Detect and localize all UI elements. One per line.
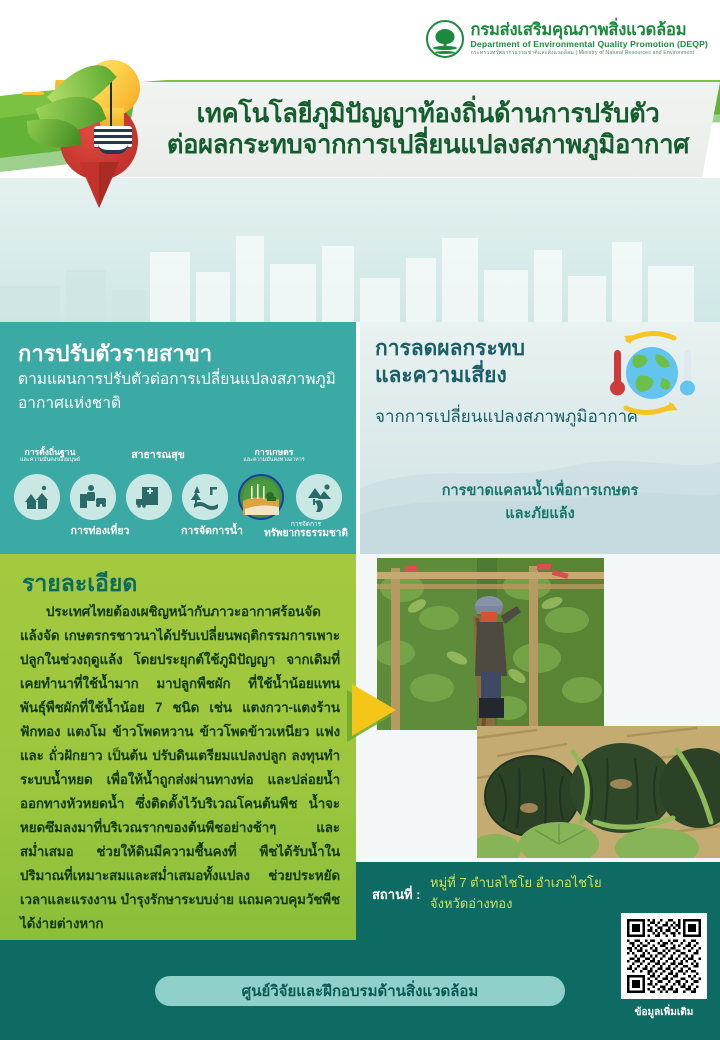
- deqp-logo: กรมส่งเสริมคุณภาพสิ่งแวดล้อม Department …: [426, 20, 708, 58]
- impact-risk-text: การขาดแคลนน้ำเพื่อการเกษตร และภัยแล้ง: [360, 480, 720, 527]
- sector-icons-row: การตั้งถิ่นฐาน และความมั่นคงของมนุษย์ สา…: [0, 448, 356, 552]
- sector-icon-label-settlement: การตั้งถิ่นฐาน และความมั่นคงของมนุษย์: [6, 448, 94, 464]
- lightbulb-leaf-pin-logo: [22, 52, 150, 204]
- water-management-icon[interactable]: [182, 474, 228, 520]
- page-title: เทคโนโลยีภูมิปัญญาท้องถิ่นด้านการปรับตัว…: [138, 86, 718, 174]
- details-heading: รายละเอียด: [22, 566, 137, 602]
- org-name-english: Department of Environmental Quality Prom…: [471, 40, 708, 49]
- location-value: หมู่ที่ 7 ตำบลไชโย อำเภอไชโย จังหวัดอ่าง…: [430, 872, 630, 914]
- sector-icon-label-public-health: สาธารณสุข: [118, 450, 198, 462]
- city-skyline-graphic: [0, 226, 720, 322]
- pumpkin-harvest-photo: [477, 726, 720, 858]
- sector-icon-label-agriculture: การเกษตร และความมั่นคงทางอาหาร: [228, 448, 320, 464]
- sector-icon-label-natural-resources: การจัดการ ทรัพยากรธรรมชาติ: [258, 520, 354, 539]
- location-line-1: หมู่ที่ 7 ตำบลไชโย อำเภอไชโย: [430, 875, 602, 890]
- center-name-text: ศูนย์วิจัยและฝึกอบรมด้านสิ่งแวดล้อม: [242, 979, 479, 1003]
- sector-icon-label-tourism: การท่องเที่ยว: [54, 526, 146, 538]
- natural-resources-icon[interactable]: [296, 474, 342, 520]
- poster-root: กรมส่งเสริมคุณภาพสิ่งแวดล้อม Department …: [0, 0, 720, 1040]
- impact-heading-line-2: และความเสี่ยง: [375, 364, 507, 387]
- lightbulb-filament: [110, 82, 112, 128]
- tourism-icon[interactable]: [70, 474, 116, 520]
- agriculture-icon[interactable]: [238, 474, 284, 520]
- deqp-emblem-icon: [426, 20, 464, 58]
- settlement-icon[interactable]: [14, 474, 60, 520]
- qr-code-image: [627, 919, 701, 993]
- globe-thermometer-icon: [600, 330, 700, 416]
- ministry-name: กระทรวงทรัพยากรธรรมชาติและสิ่งแวดล้อม | …: [471, 51, 708, 57]
- details-body-text: ประเทศไทยต้องเผชิญหน้ากับภาวะอากาศร้อนจั…: [20, 600, 340, 936]
- risk-line-2: และภัยแล้ง: [505, 506, 574, 522]
- impact-heading-line-1: การลดผลกระทบ: [375, 337, 525, 360]
- public-health-icon[interactable]: [126, 474, 172, 520]
- qr-code[interactable]: [621, 913, 707, 999]
- center-name-pill: ศูนย์วิจัยและฝึกอบรมด้านสิ่งแวดล้อม: [155, 976, 565, 1006]
- qr-caption: ข้อมูลเพิ่มเติม: [616, 1005, 712, 1020]
- sector-panel-subheading: ตามแผนการปรับตัวต่อการเปลี่ยนแปลงสภาพภูม…: [18, 368, 348, 415]
- impact-panel-heading: การลดผลกระทบ และความเสี่ยง: [375, 336, 605, 390]
- title-line-1: เทคโนโลยีภูมิปัญญาท้องถิ่นด้านการปรับตัว: [197, 99, 660, 130]
- sector-panel-heading: การปรับตัวรายสาขา: [18, 336, 212, 371]
- org-name-thai: กรมส่งเสริมคุณภาพสิ่งแวดล้อม: [471, 22, 708, 39]
- trellis-vegetable-photo: [377, 558, 604, 730]
- risk-line-1: การขาดแคลนน้ำเพื่อการเกษตร: [442, 483, 639, 499]
- location-line-2: จังหวัดอ่างทอง: [430, 896, 512, 911]
- location-label: สถานที่ :: [372, 884, 421, 905]
- sector-icon-label-water: การจัดการน้ำ: [166, 526, 258, 538]
- title-line-2: ต่อผลกระทบจากการเปลี่ยนแปลงสภาพภูมิอากาศ: [167, 130, 689, 161]
